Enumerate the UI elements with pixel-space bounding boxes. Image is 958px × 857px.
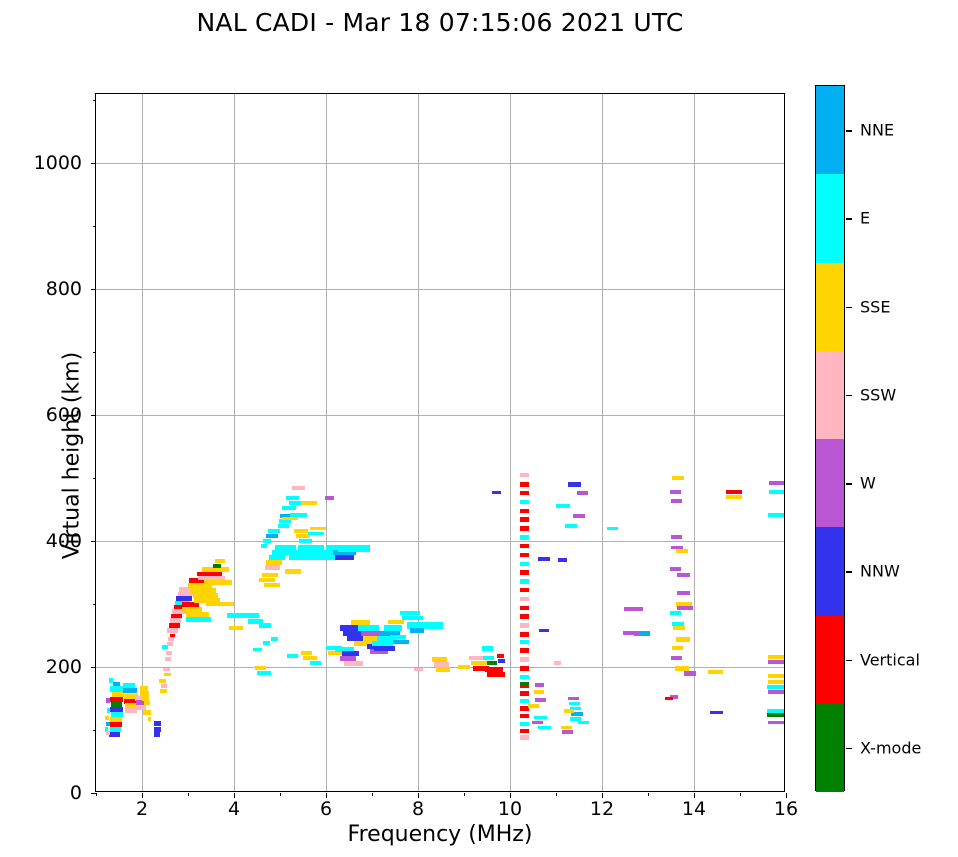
echo-mark: [259, 578, 275, 582]
x-tick-label: 16: [774, 798, 798, 820]
colorbar-label-w: W: [860, 474, 876, 493]
echo-mark: [768, 690, 784, 694]
echo-mark: [726, 495, 742, 499]
echo-mark: [400, 611, 421, 615]
echo-mark: [390, 635, 406, 639]
echo-mark: [165, 657, 171, 661]
x-minor-tick: [188, 793, 189, 796]
echo-mark: [388, 620, 404, 624]
x-tick-label: 10: [498, 798, 522, 820]
echo-mark: [671, 656, 682, 660]
echo-mark: [768, 513, 784, 517]
y-tick: [91, 415, 96, 416]
echo-mark: [289, 555, 312, 560]
echo-mark: [265, 565, 280, 570]
echo-mark: [285, 569, 301, 573]
y-minor-tick: [93, 100, 96, 101]
echo-mark: [105, 716, 109, 720]
echo-mark: [520, 699, 529, 703]
echo-mark: [140, 686, 148, 691]
echo-mark: [726, 490, 742, 494]
echo-mark: [160, 689, 166, 693]
echo-mark: [106, 698, 110, 702]
echo-mark: [163, 668, 169, 672]
echo-mark: [670, 490, 681, 494]
echo-mark: [520, 735, 529, 739]
echo-mark: [255, 666, 267, 670]
echo-mark: [303, 656, 317, 660]
echo-mark: [573, 514, 584, 518]
x-axis-title: Frequency (MHz): [95, 822, 785, 847]
echo-mark: [768, 674, 784, 678]
echo-mark: [107, 708, 110, 712]
colorbar-label-sse: SSE: [860, 297, 890, 316]
echo-mark: [169, 623, 180, 627]
echo-mark: [520, 491, 529, 495]
echo-mark: [672, 646, 683, 650]
y-gridline: [96, 541, 784, 542]
echo-mark: [623, 631, 639, 635]
echo-mark: [767, 685, 784, 689]
echo-mark: [384, 625, 402, 630]
echo-mark: [229, 626, 243, 630]
echo-mark: [568, 697, 580, 701]
echo-mark: [167, 642, 173, 646]
echo-mark: [769, 490, 784, 494]
colorbar-label-ssw: SSW: [860, 385, 896, 404]
x-tick-label: 14: [682, 798, 706, 820]
echo-mark: [458, 665, 469, 669]
echo-mark: [204, 580, 232, 584]
echo-mark: [487, 661, 497, 665]
echo-mark: [665, 697, 673, 701]
echo-mark: [607, 527, 619, 530]
echo-mark: [520, 509, 529, 513]
echo-mark: [568, 482, 582, 487]
echo-mark: [671, 499, 682, 503]
echo-mark: [562, 730, 574, 734]
echo-mark: [374, 646, 395, 651]
echo-mark: [520, 597, 529, 601]
echo-mark: [520, 614, 529, 618]
echo-mark: [520, 535, 529, 539]
echo-mark: [143, 710, 151, 714]
echo-mark: [170, 618, 182, 622]
x-tick-label: 4: [228, 798, 240, 820]
echo-mark: [520, 517, 529, 521]
echo-mark: [520, 691, 529, 695]
echo-mark: [768, 655, 784, 659]
echo-mark: [410, 628, 424, 632]
echo-mark: [670, 611, 681, 615]
echo-mark: [497, 654, 504, 658]
y-tick: [91, 667, 96, 668]
echo-mark: [301, 651, 313, 655]
echo-mark: [263, 641, 270, 645]
colorbar-segment-ssw: [816, 351, 844, 439]
echo-mark: [677, 591, 691, 595]
echo-mark: [520, 682, 529, 686]
colorbar-tick: [846, 307, 852, 308]
plot-area: 24681012141602004006008001000: [95, 93, 785, 792]
echo-mark: [520, 714, 529, 718]
echo-mark: [535, 683, 544, 687]
echo-mark: [672, 476, 684, 480]
echo-mark: [109, 732, 120, 737]
colorbar-tick: [846, 130, 852, 131]
echo-mark: [264, 583, 280, 587]
echo-mark: [259, 623, 271, 628]
echo-mark: [335, 555, 353, 560]
echo-mark: [310, 527, 326, 531]
colorbar-tick: [846, 571, 852, 572]
echo-mark: [271, 637, 278, 641]
colorbar-segment-e: [816, 174, 844, 262]
echo-mark: [520, 579, 529, 583]
echo-mark: [393, 640, 409, 644]
y-gridline: [96, 415, 784, 416]
x-minor-tick: [740, 793, 741, 796]
y-gridline: [96, 289, 784, 290]
echo-mark: [520, 623, 529, 627]
echo-mark: [213, 564, 221, 568]
echo-mark: [676, 637, 691, 641]
echo-mark: [294, 529, 308, 533]
echo-mark: [148, 717, 152, 721]
echo-mark: [164, 673, 170, 677]
plot-canvas: [96, 94, 784, 791]
echo-mark: [154, 732, 160, 736]
echo-mark: [534, 690, 545, 694]
echo-mark: [344, 661, 362, 666]
echo-mark: [299, 539, 312, 543]
echo-mark: [710, 711, 722, 715]
echo-mark: [532, 721, 543, 725]
echo-mark: [487, 672, 505, 677]
echo-mark: [432, 657, 447, 661]
echo-mark: [520, 544, 529, 548]
colorbar: NNEESSESSWWNNWVerticalX-mode: [815, 85, 845, 791]
colorbar-label-nnw: NNW: [860, 562, 900, 581]
x-minor-tick: [556, 793, 557, 796]
echo-mark: [140, 691, 149, 695]
echo-mark: [520, 482, 529, 486]
ionogram-figure: NAL CADI - Mar 18 07:15:06 2021 UTC 2468…: [0, 0, 958, 857]
echo-mark: [578, 721, 589, 725]
echo-mark: [520, 606, 529, 610]
echo-mark: [262, 573, 278, 577]
echo-mark: [569, 702, 580, 706]
echo-mark: [287, 654, 299, 658]
echo-mark: [215, 559, 225, 563]
echo-mark: [492, 491, 501, 495]
y-tick-label: 1000: [34, 152, 82, 174]
echo-mark: [498, 659, 505, 663]
echo-mark: [520, 666, 529, 670]
echo-mark: [482, 646, 492, 651]
echo-mark: [161, 684, 167, 688]
y-tick: [91, 793, 96, 794]
echo-mark: [768, 660, 784, 664]
echo-mark: [167, 628, 178, 632]
x-tick-label: 6: [320, 798, 332, 820]
echo-mark: [106, 731, 110, 735]
echo-mark: [520, 729, 529, 733]
y-minor-tick: [93, 352, 96, 353]
echo-mark: [708, 670, 723, 674]
echo-mark: [520, 570, 529, 574]
x-minor-tick: [96, 793, 97, 796]
echo-mark: [528, 704, 538, 708]
echo-mark: [282, 517, 298, 521]
x-gridline: [418, 94, 419, 791]
echo-mark: [308, 532, 324, 536]
echo-mark: [261, 544, 267, 548]
y-minor-tick: [93, 604, 96, 605]
x-tick-label: 12: [590, 798, 614, 820]
y-minor-tick: [93, 730, 96, 731]
echo-mark: [768, 721, 784, 725]
echo-mark: [168, 637, 174, 641]
echo-mark: [564, 709, 574, 713]
echo-mark: [278, 524, 290, 528]
echo-mark: [144, 701, 150, 705]
echo-mark: [520, 473, 529, 477]
y-minor-tick: [93, 226, 96, 227]
echo-mark: [520, 675, 529, 679]
y-tick-label: 200: [46, 656, 82, 678]
echo-mark: [414, 668, 422, 672]
colorbar-segment-nnw: [816, 527, 844, 615]
echo-mark: [534, 716, 547, 720]
colorbar-label-e: E: [860, 209, 870, 228]
colorbar-segment-x-mode: [816, 704, 844, 792]
x-tick-label: 2: [136, 798, 148, 820]
x-minor-tick: [372, 793, 373, 796]
echo-mark: [268, 529, 280, 533]
echo-mark: [577, 491, 589, 495]
echo-mark: [520, 632, 529, 636]
echo-mark: [767, 713, 784, 717]
colorbar-segment-nne: [816, 86, 844, 174]
echo-mark: [671, 535, 682, 539]
echo-mark: [257, 671, 271, 675]
echo-mark: [539, 629, 550, 633]
echo-mark: [292, 486, 306, 490]
colorbar-label-x-mode: X-mode: [860, 738, 921, 757]
y-axis-title: Virtual height (km): [60, 291, 85, 621]
echo-mark: [253, 648, 261, 652]
colorbar-label-nne: NNE: [860, 121, 894, 140]
echo-mark: [469, 656, 485, 660]
echo-mark: [561, 726, 573, 730]
echo-mark: [535, 698, 546, 702]
y-tick: [91, 163, 96, 164]
echo-mark: [170, 634, 176, 637]
x-gridline: [326, 94, 327, 791]
page-title: NAL CADI - Mar 18 07:15:06 2021 UTC: [0, 8, 880, 37]
echo-mark: [520, 657, 529, 661]
echo-mark: [558, 558, 567, 562]
x-gridline: [234, 94, 235, 791]
colorbar-label-vertical: Vertical: [860, 650, 920, 669]
echo-mark: [137, 705, 145, 710]
echo-mark: [520, 588, 529, 592]
echo-mark: [673, 626, 685, 630]
echo-mark: [154, 727, 162, 732]
echo-mark: [520, 500, 529, 504]
echo-mark: [554, 661, 561, 665]
echo-mark: [434, 662, 449, 666]
echo-mark: [206, 602, 234, 606]
colorbar-segment-w: [816, 439, 844, 527]
y-tick: [91, 289, 96, 290]
echo-mark: [266, 534, 278, 538]
echo-mark: [263, 539, 271, 543]
echo-mark: [290, 513, 307, 517]
x-minor-tick: [280, 793, 281, 796]
echo-mark: [286, 496, 300, 500]
echo-mark: [565, 524, 577, 528]
echo-mark: [520, 562, 529, 566]
echo-mark: [768, 680, 784, 684]
x-tick-label: 8: [412, 798, 424, 820]
echo-mark: [282, 506, 296, 510]
echo-mark: [556, 504, 570, 508]
echo-mark: [538, 726, 552, 730]
echo-mark: [624, 607, 643, 611]
echo-mark: [520, 722, 529, 726]
colorbar-segment-vertical: [816, 616, 844, 704]
x-gridline: [510, 94, 511, 791]
echo-mark: [301, 501, 317, 505]
x-minor-tick: [464, 793, 465, 796]
echo-mark: [520, 526, 529, 530]
echo-mark: [186, 617, 211, 622]
echo-mark: [436, 667, 450, 671]
echo-mark: [338, 545, 370, 552]
echo-mark: [677, 606, 694, 610]
echo-mark: [125, 708, 137, 713]
y-tick-label: 0: [70, 782, 82, 804]
echo-mark: [166, 651, 172, 655]
echo-mark: [538, 557, 551, 561]
colorbar-tick: [846, 660, 852, 661]
y-minor-tick: [93, 478, 96, 479]
echo-mark: [159, 679, 165, 683]
x-gridline: [602, 94, 603, 791]
echo-mark: [471, 661, 487, 665]
echo-mark: [677, 573, 691, 577]
echo-mark: [684, 671, 696, 675]
echo-mark: [325, 496, 334, 500]
colorbar-segment-sse: [816, 263, 844, 351]
echo-mark: [520, 648, 529, 652]
y-tick: [91, 541, 96, 542]
y-gridline: [96, 163, 784, 164]
colorbar-tick: [846, 218, 852, 219]
colorbar-tick: [846, 483, 852, 484]
echo-mark: [402, 616, 423, 620]
echo-mark: [769, 481, 784, 485]
echo-mark: [227, 613, 259, 619]
echo-mark: [520, 553, 529, 557]
colorbar-tick: [846, 395, 852, 396]
echo-mark: [106, 722, 110, 726]
echo-mark: [676, 549, 689, 553]
echo-mark: [675, 666, 690, 670]
echo-mark: [154, 721, 162, 726]
x-minor-tick: [648, 793, 649, 796]
echo-mark: [312, 555, 335, 560]
echo-mark: [176, 596, 192, 600]
x-gridline: [694, 94, 695, 791]
echo-mark: [520, 640, 529, 644]
echo-mark: [483, 656, 494, 660]
echo-mark: [171, 614, 183, 618]
colorbar-tick: [846, 748, 852, 749]
echo-mark: [670, 567, 681, 571]
echo-mark: [310, 661, 322, 665]
